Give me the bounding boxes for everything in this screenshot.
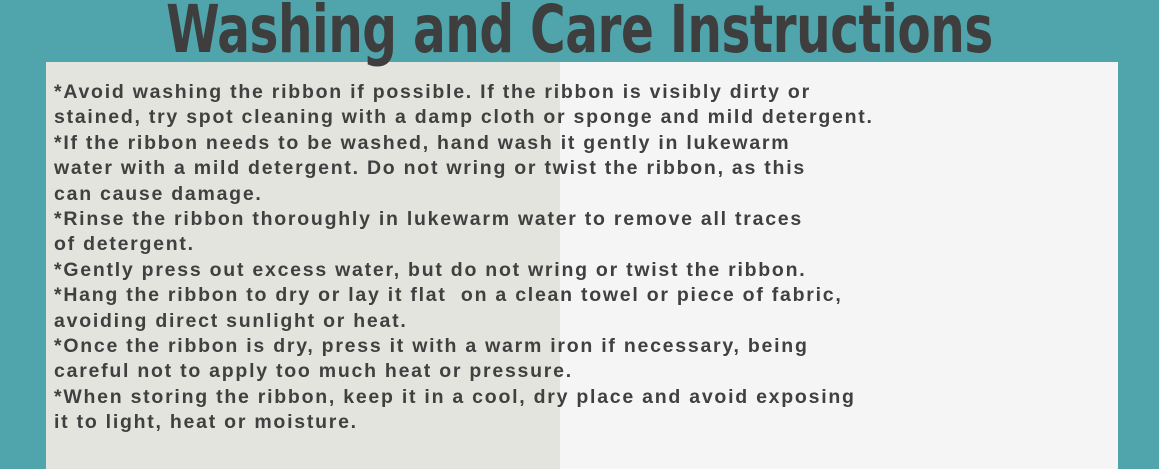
instruction-line: *If the ribbon needs to be washed, hand …: [54, 131, 1159, 156]
instruction-line: can cause damage.: [54, 182, 1159, 207]
instruction-line: *When storing the ribbon, keep it in a c…: [54, 385, 1159, 410]
poster-canvas: Washing and Care Instructions *Avoid was…: [0, 0, 1159, 469]
instructions-text-block: *Avoid washing the ribbon if possible. I…: [54, 80, 1159, 436]
instruction-line: *Hang the ribbon to dry or lay it flat o…: [54, 283, 1159, 308]
page-title: Washing and Care Instructions: [166, 0, 993, 64]
instruction-line: of detergent.: [54, 232, 1159, 257]
title-bar: Washing and Care Instructions: [0, 0, 1159, 62]
instruction-line: avoiding direct sunlight or heat.: [54, 309, 1159, 334]
instruction-line: it to light, heat or moisture.: [54, 410, 1159, 435]
instruction-line: *Gently press out excess water, but do n…: [54, 258, 1159, 283]
instruction-line: stained, try spot cleaning with a damp c…: [54, 105, 1159, 130]
instruction-line: water with a mild detergent. Do not wrin…: [54, 156, 1159, 181]
instruction-line: careful not to apply too much heat or pr…: [54, 359, 1159, 384]
instruction-line: *Avoid washing the ribbon if possible. I…: [54, 80, 1159, 105]
instruction-line: *Once the ribbon is dry, press it with a…: [54, 334, 1159, 359]
instruction-line: *Rinse the ribbon thoroughly in lukewarm…: [54, 207, 1159, 232]
